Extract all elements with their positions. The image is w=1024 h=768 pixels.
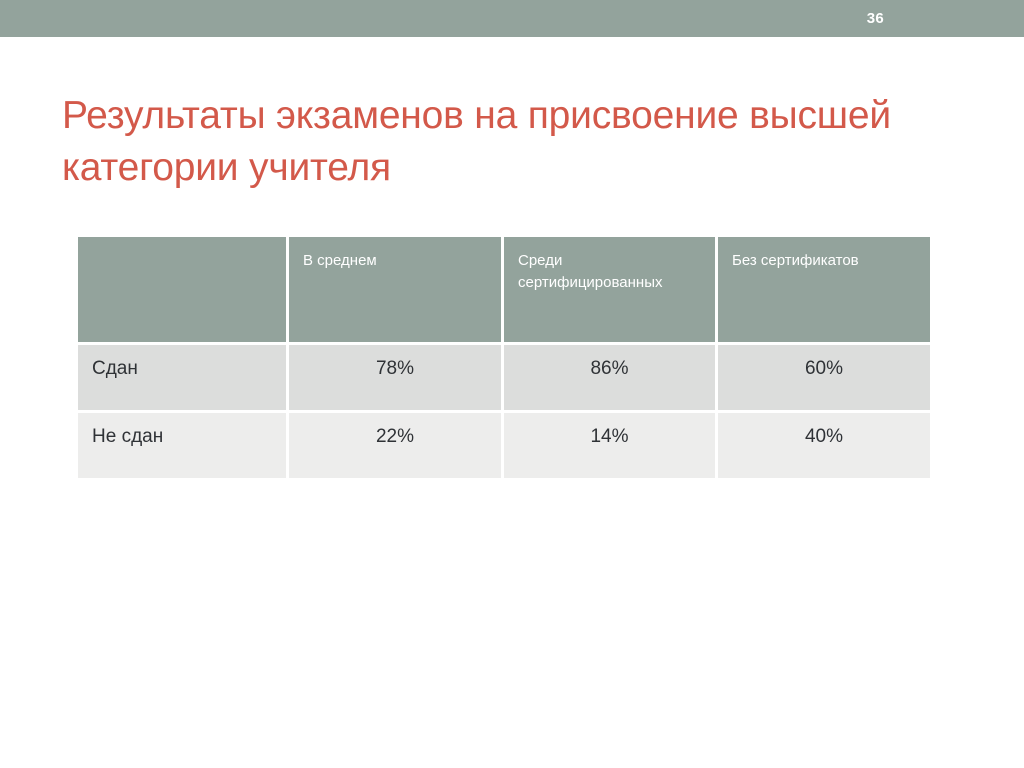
table-header-label-uncertified: Без сертификатов [718,237,930,272]
table-header-label-certified: Среди сертифицированных [504,237,715,294]
table-header-label-average: В среднем [289,237,501,272]
cell-value-text: 78% [289,345,501,381]
table-cell-failed-average: 22% [289,413,504,478]
table-header-cell-certified: Среди сертифицированных [504,237,718,345]
table-header-cell-uncertified: Без сертификатов [718,237,930,345]
table-cell-passed-certified: 86% [504,345,718,413]
row-label-text: Сдан [78,345,286,381]
table-row: Не сдан 22% 14% 40% [78,413,930,478]
table-row-label-failed: Не сдан [78,413,289,478]
table-cell-failed-uncertified: 40% [718,413,930,478]
slide-number: 36 [867,11,884,27]
table-cell-failed-certified: 14% [504,413,718,478]
cell-value-text: 86% [504,345,715,381]
exam-results-table: В среднем Среди сертифицированных Без се… [78,237,930,478]
table-header-cell-corner [78,237,289,345]
table-header-row: В среднем Среди сертифицированных Без се… [78,237,930,345]
table-row: Сдан 78% 86% 60% [78,345,930,413]
top-banner: 36 [0,0,1024,37]
cell-value-text: 40% [718,413,930,449]
table-cell-passed-average: 78% [289,345,504,413]
table-header-cell-average: В среднем [289,237,504,345]
table-cell-passed-uncertified: 60% [718,345,930,413]
cell-value-text: 60% [718,345,930,381]
cell-value-text: 14% [504,413,715,449]
cell-value-text: 22% [289,413,501,449]
row-label-text: Не сдан [78,413,286,449]
table-row-label-passed: Сдан [78,345,289,413]
page-title: Результаты экзаменов на присвоение высше… [62,90,962,194]
